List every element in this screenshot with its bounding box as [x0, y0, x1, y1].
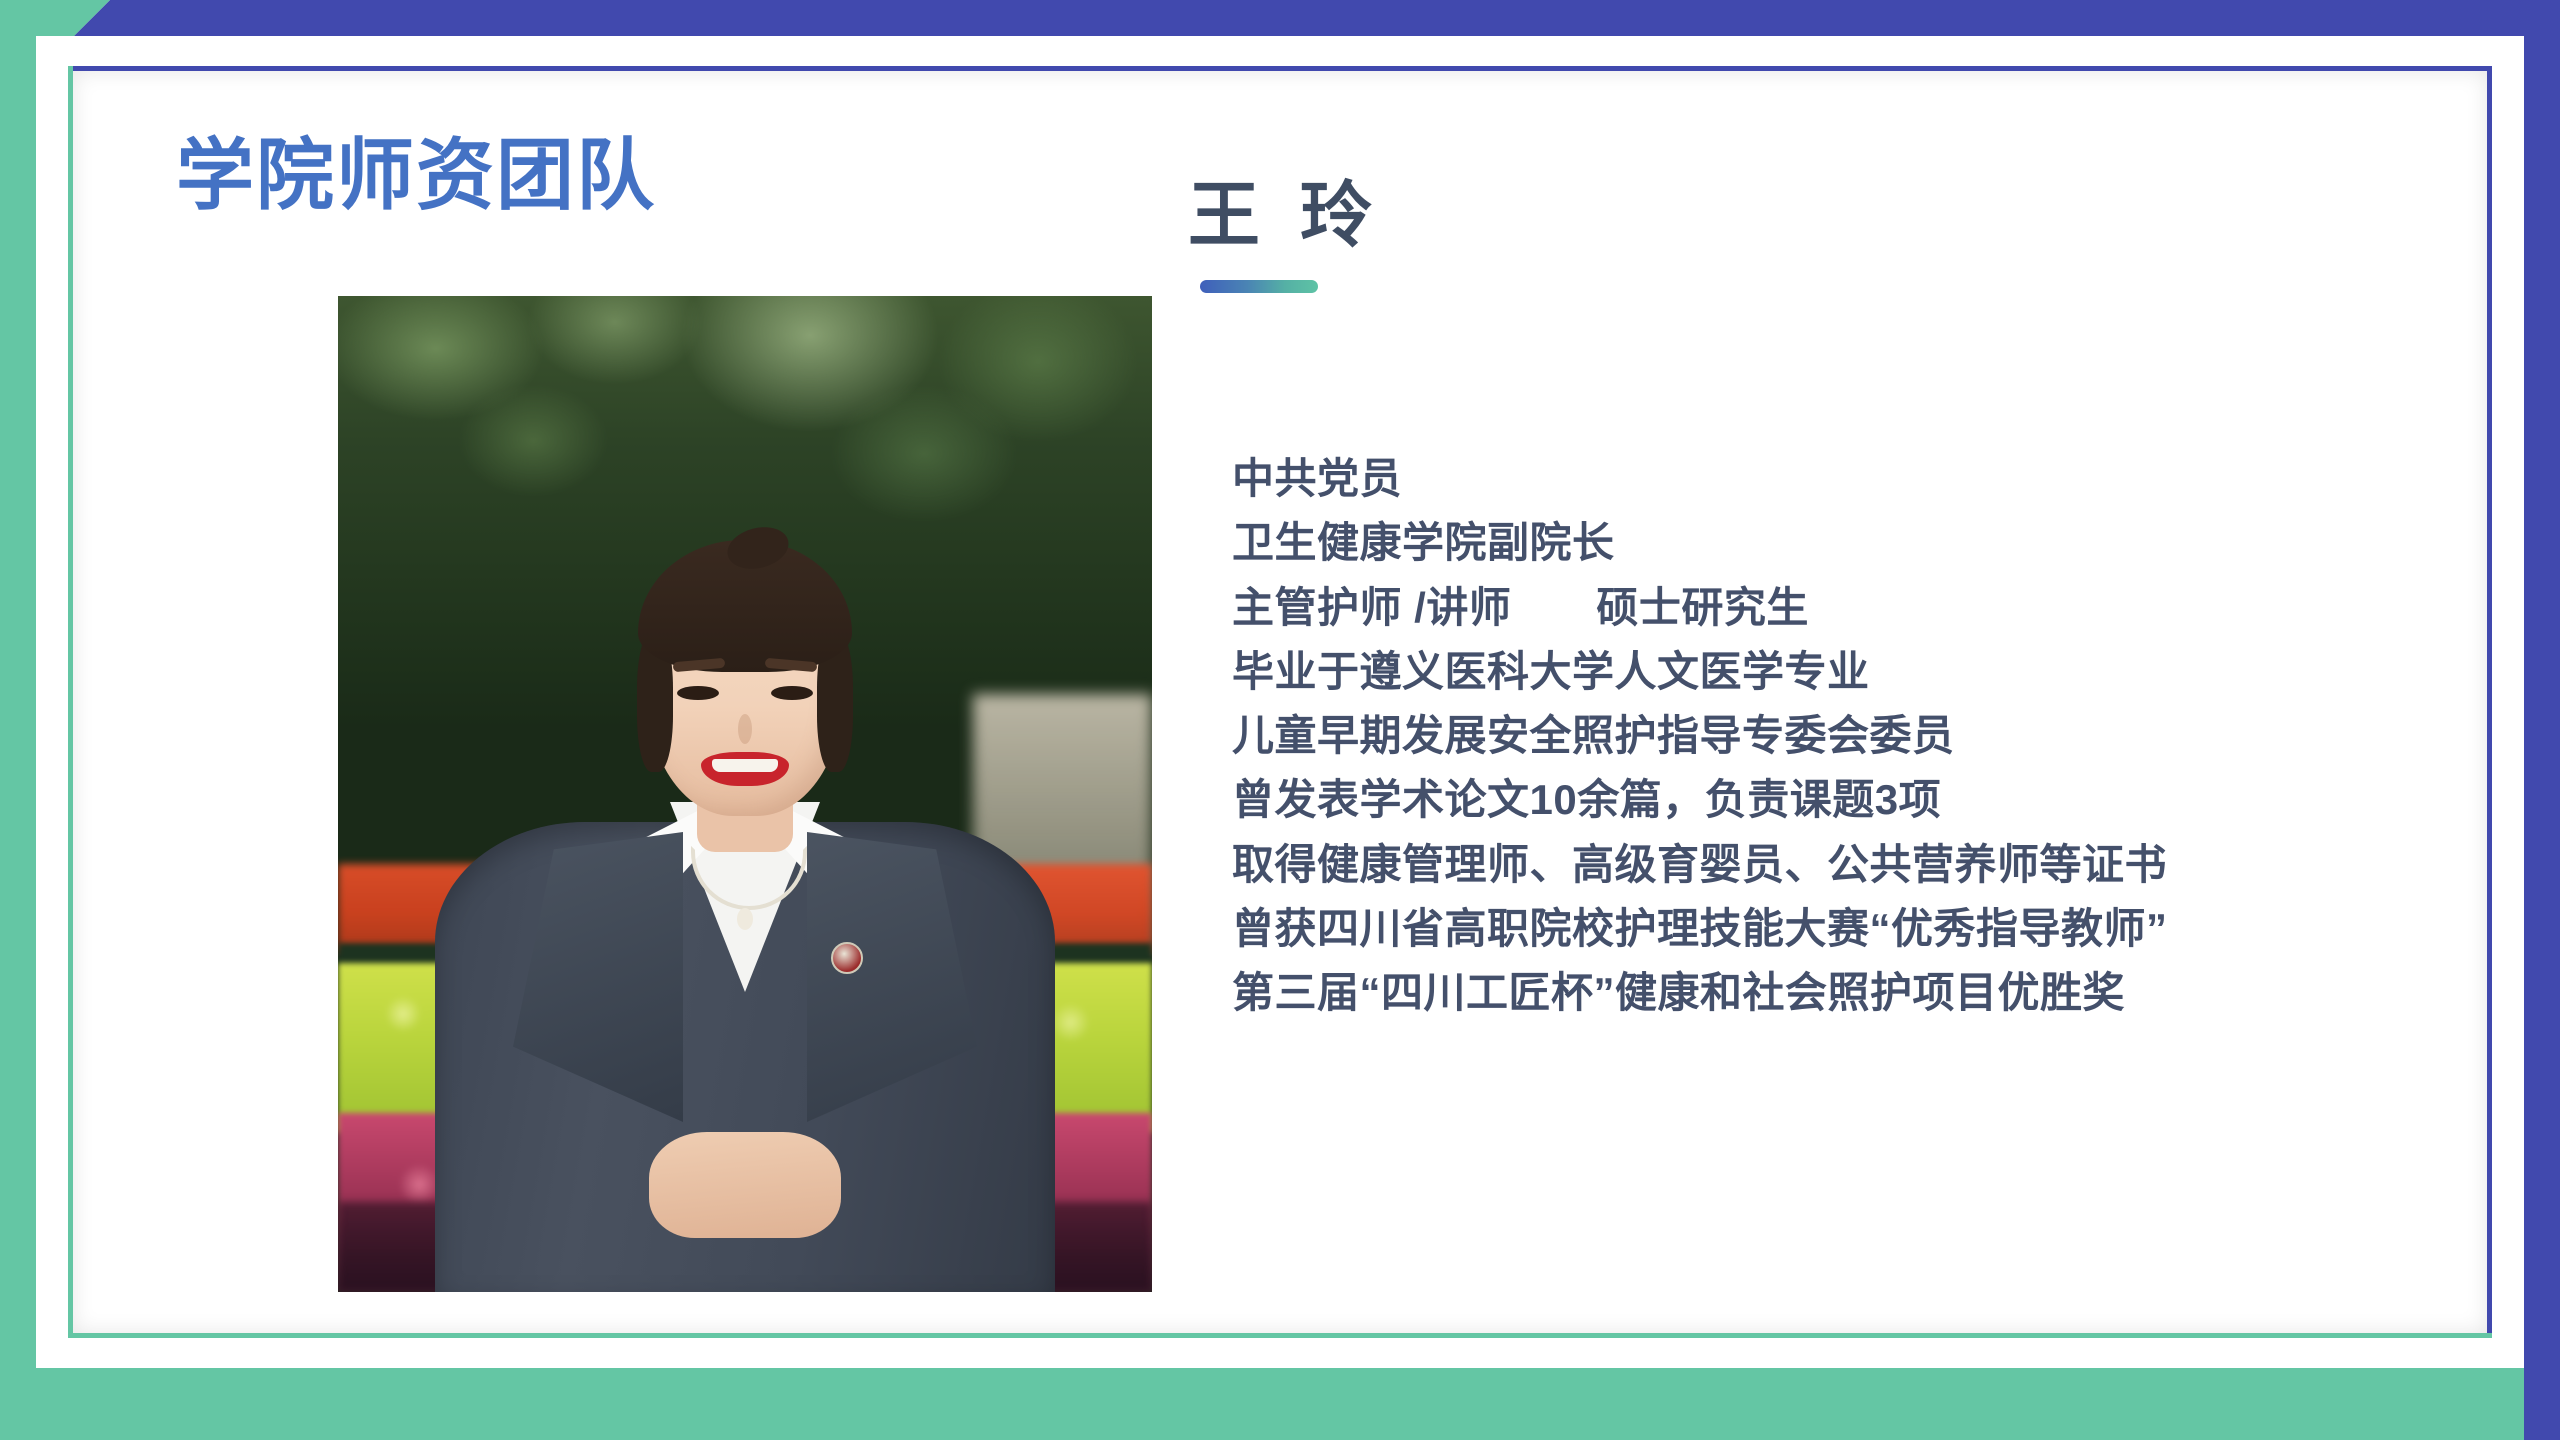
bio-line: 曾发表学术论文10余篇，负责课题3项 — [1232, 768, 2462, 832]
profile-photo — [338, 296, 1152, 1292]
photo-hands — [649, 1132, 841, 1238]
name-underline-rule — [1200, 280, 1318, 293]
photo-teeth — [712, 759, 778, 772]
profile-bio-list: 中共党员 卫生健康学院副院长 主管护师 /讲师 硕士研究生 毕业于遵义医科大学人… — [1232, 447, 2462, 1025]
bio-line: 第三届“四川工匠杯”健康和社会照护项目优胜奖 — [1232, 961, 2462, 1025]
photo-nose — [738, 714, 752, 744]
bio-line: 主管护师 /讲师 硕士研究生 — [1232, 576, 2462, 640]
bio-line: 儿童早期发展安全照护指导专委会委员 — [1232, 704, 2462, 768]
bio-line: 曾获四川省高职院校护理技能大赛“优秀指导教师” — [1232, 897, 2462, 961]
photo-pendant — [737, 908, 753, 930]
slide-content: 学院师资团队 — [0, 0, 2560, 1440]
slide-canvas: 学院师资团队 — [0, 0, 2560, 1440]
bio-line: 毕业于遵义医科大学人文医学专业 — [1232, 640, 2462, 704]
bio-line: 中共党员 — [1232, 447, 2462, 511]
section-title: 学院师资团队 — [176, 136, 656, 214]
photo-lapel-pin — [831, 942, 863, 974]
photo-eye-right — [771, 686, 813, 700]
photo-eye-left — [677, 686, 719, 700]
bio-line: 卫生健康学院副院长 — [1232, 511, 2462, 575]
profile-name: 王 玲 — [1188, 180, 1382, 252]
bio-line: 取得健康管理师、高级育婴员、公共营养师等证书 — [1232, 833, 2462, 897]
